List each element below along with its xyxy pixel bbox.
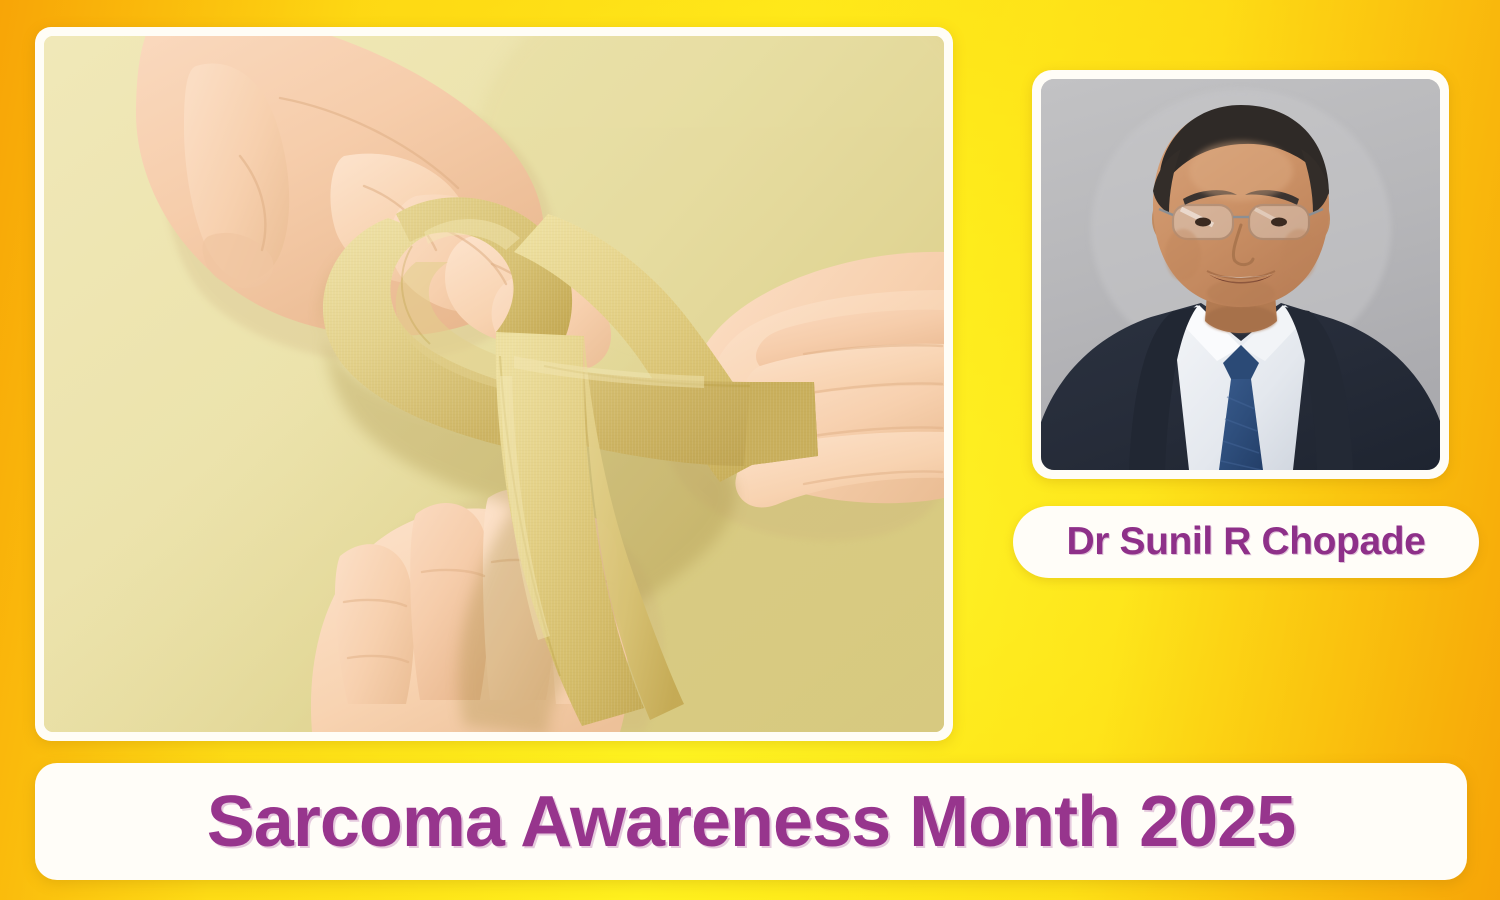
hero-image-card — [35, 27, 953, 741]
page-title: Sarcoma Awareness Month 2025 — [207, 781, 1296, 863]
doctor-photo-card — [1032, 70, 1449, 479]
doctor-photo — [1041, 79, 1440, 470]
hero-image — [44, 36, 944, 732]
doctor-name: Dr Sunil R Chopade — [1067, 520, 1426, 564]
headline-bar: Sarcoma Awareness Month 2025 — [35, 763, 1467, 880]
doctor-portrait-illustration — [1041, 79, 1440, 470]
awareness-ribbon-illustration — [44, 36, 944, 732]
doctor-name-badge: Dr Sunil R Chopade — [1013, 506, 1479, 578]
